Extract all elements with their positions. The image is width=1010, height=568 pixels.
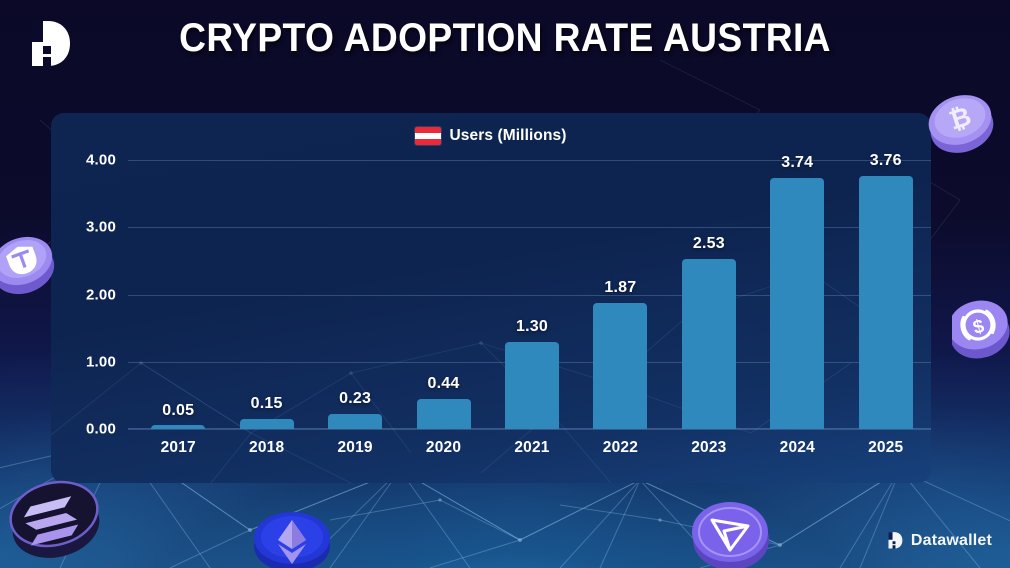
bar-group[interactable]: 1.872022 [576,160,664,429]
bar[interactable] [682,259,736,429]
x-axis-tick-label: 2017 [161,439,196,457]
ethereum-coin [248,508,340,568]
bar-group[interactable]: 0.052017 [134,160,222,429]
bar-group[interactable]: 3.742024 [753,160,841,429]
bar-value-label: 1.87 [604,279,636,297]
tron-coin [686,496,778,568]
legend-label: Users (Millions) [449,127,566,145]
brand-watermark: Datawallet [884,531,992,550]
bar-value-label: 0.23 [339,390,371,408]
solana-coin [4,468,112,564]
watermark-label: Datawallet [911,532,992,550]
bar-group[interactable]: 0.232019 [311,160,399,429]
bar[interactable] [505,342,559,429]
bar[interactable] [240,419,294,429]
y-axis-tick-label: 2.00 [86,286,116,303]
x-axis-tick-label: 2024 [780,439,815,457]
bar[interactable] [593,303,647,429]
bar-value-label: 0.44 [428,375,460,393]
x-axis-tick-label: 2018 [249,439,284,457]
x-axis-tick-label: 2020 [426,439,461,457]
bar[interactable] [859,176,913,429]
bar-value-label: 3.74 [781,154,813,172]
bar-value-label: 1.30 [516,318,548,336]
datawallet-d-logo-icon [884,531,904,550]
austria-flag-icon [415,127,441,145]
bar[interactable] [417,399,471,429]
bar[interactable] [151,425,205,429]
bar-series: 0.0520170.1520180.2320190.4420201.302021… [128,160,931,429]
chart-legend: Users (Millions) [51,127,931,145]
bitcoin-coin: ₿ [918,82,1002,160]
y-axis-tick-label: 4.00 [86,152,116,169]
infographic-canvas: CRYPTO ADOPTION RATE AUSTRIA [0,0,1010,568]
x-axis-tick-label: 2021 [514,439,549,457]
bar-value-label: 0.05 [162,402,194,420]
y-axis-tick-label: 1.00 [86,353,116,370]
x-axis-tick-label: 2019 [337,439,372,457]
bar-group[interactable]: 2.532023 [665,160,753,429]
chart-panel: Users (Millions) 0.001.002.003.004.00 0.… [51,113,931,483]
page-title: CRYPTO ADOPTION RATE AUSTRIA [35,16,974,61]
y-axis-tick-label: 0.00 [86,421,116,438]
bar[interactable] [328,414,382,429]
usdc-coin: $ [952,282,1010,368]
gridline [128,429,931,430]
bar-value-label: 3.76 [870,152,902,170]
tether-coin [0,218,64,300]
bar-value-label: 2.53 [693,235,725,253]
y-axis-tick-label: 3.00 [86,219,116,236]
bar[interactable] [770,178,824,430]
x-axis-tick-label: 2025 [868,439,903,457]
x-axis-tick-label: 2022 [603,439,638,457]
plot-area: 0.001.002.003.004.00 0.0520170.1520180.2… [128,160,931,429]
x-axis-tick-label: 2023 [691,439,726,457]
bar-group[interactable]: 3.762025 [842,160,930,429]
bar-value-label: 0.15 [251,395,283,413]
bar-group[interactable]: 1.302021 [488,160,576,429]
bar-group[interactable]: 0.442020 [399,160,487,429]
bar-group[interactable]: 0.152018 [222,160,310,429]
